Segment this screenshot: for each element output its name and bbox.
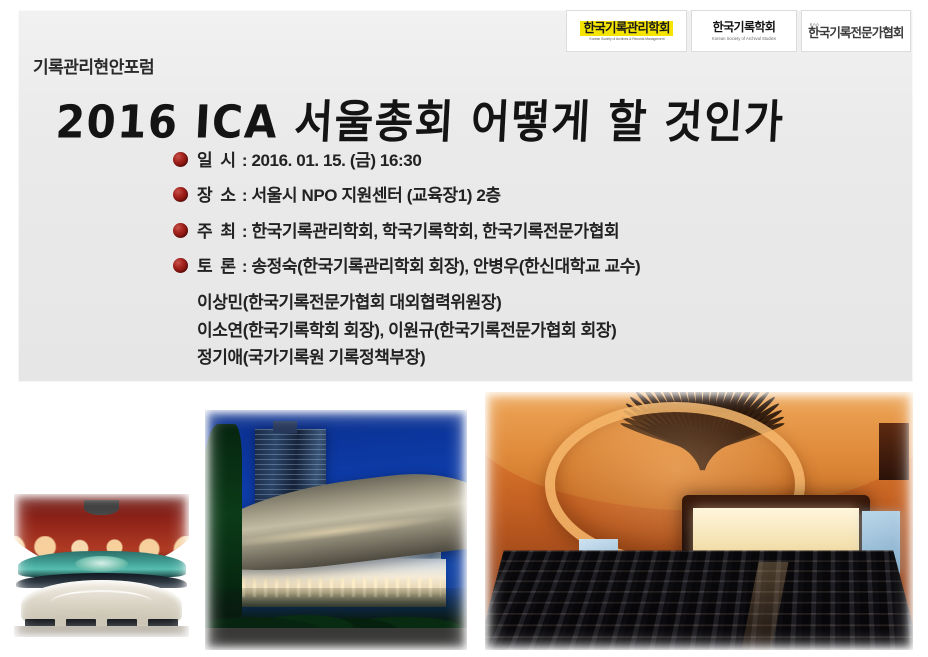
hall-floor	[14, 626, 189, 637]
hall-ceiling-pod	[84, 500, 119, 516]
detail-row-panel: 토 론 : 송정숙(한국기록관리학회 회장), 안병우(한신대학교 교수) 이상…	[173, 254, 893, 372]
detail-label: 토 론	[197, 257, 238, 276]
detail-label: 장 소	[197, 186, 238, 205]
detail-row-venue: 장 소 : 서울시 NPO 지원센터 (교육장1) 2층	[173, 183, 893, 209]
panel-line: 정기애(국가기록원 기록정책부장)	[197, 344, 893, 372]
bullet-icon	[173, 258, 188, 273]
detail-value: 송정숙(한국기록관리학회 회장), 안병우(한신대학교 교수)	[251, 257, 640, 276]
logo-en-text: Korean Society of Archival Studies	[712, 36, 776, 41]
logo-korean-association-of-archivists: KAA 한국기록전문가협회	[801, 10, 911, 52]
panel-extra-lines: 이상민(한국기록전문가협회 대외협력위원장) 이소연(한국기록학회 회장), 이…	[197, 289, 893, 372]
panel-line: 이상민(한국기록전문가협회 대외협력위원장)	[197, 289, 893, 317]
tower-crown	[273, 421, 297, 433]
detail-label: 주 최	[197, 222, 238, 241]
poster-panel: 한국기록관리학회 Korean Society of Archives & Re…	[18, 10, 913, 382]
circular-summit-hall-photo	[14, 494, 189, 637]
detail-text: 장 소 : 서울시 NPO 지원센터 (교육장1) 2층	[197, 183, 501, 209]
event-details: 일 시 : 2016. 01. 15. (금) 16:30 장 소 : 서울시 …	[173, 148, 893, 372]
detail-value: 서울시 NPO 지원센터 (교육장1) 2층	[251, 186, 500, 205]
wall-fixture	[879, 423, 909, 480]
logo-en-text: Korean Society of Archives & Records Man…	[589, 37, 664, 41]
detail-text: 토 론 : 송정숙(한국기록관리학회 회장), 안병우(한신대학교 교수)	[197, 254, 640, 280]
detail-row-date: 일 시 : 2016. 01. 15. (금) 16:30	[173, 148, 893, 174]
logo-korean-society-of-archives-and-records-management: 한국기록관리학회 Korean Society of Archives & Re…	[566, 10, 687, 52]
bullet-icon	[173, 187, 188, 202]
coex-convention-center-photo	[205, 410, 467, 650]
logo-kr-text: 한국기록전문가협회	[808, 27, 903, 40]
auditorium-photo	[485, 392, 913, 650]
detail-text: 주 최 : 한국기록관리학회, 학국기록학회, 한국기록전문가협회	[197, 219, 619, 245]
detail-text: 일 시 : 2016. 01. 15. (금) 16:30	[197, 148, 421, 174]
plaza-ground	[205, 628, 467, 650]
panel-line: 이소연(한국기록학회 회장), 이원규(한국기록전문가협회 회장)	[197, 317, 893, 345]
detail-label: 일 시	[197, 151, 238, 170]
logo-korean-society-of-archival-studies: 한국기록학회 Korean Society of Archival Studie…	[691, 10, 796, 52]
detail-value: 한국기록관리학회, 학국기록학회, 한국기록전문가협회	[251, 222, 619, 241]
forum-kicker: 기록관리현안포럼	[33, 53, 154, 78]
seating-rows	[485, 551, 913, 650]
bullet-icon	[173, 152, 188, 167]
logo-kr-text: 한국기록관리학회	[580, 21, 672, 36]
detail-row-host: 주 최 : 한국기록관리학회, 학국기록학회, 한국기록전문가협회	[173, 219, 893, 245]
detail-value: 2016. 01. 15. (금) 16:30	[251, 151, 421, 170]
logo-kr-text: 한국기록학회	[713, 21, 776, 34]
bullet-icon	[173, 223, 188, 238]
page-title: 2016 ICA 서울총회 어떻게 할 것인가	[54, 86, 917, 152]
organizer-logo-strip: 한국기록관리학회 Korean Society of Archives & Re…	[566, 10, 911, 52]
